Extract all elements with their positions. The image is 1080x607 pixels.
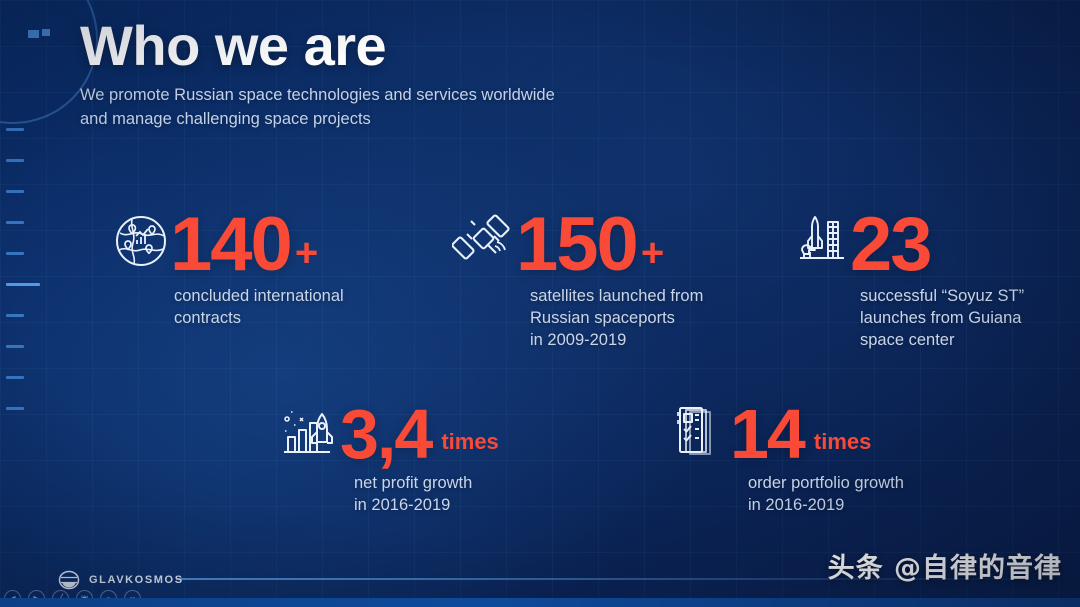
bottom-progress-bar	[0, 598, 1080, 607]
stat-value: 150	[516, 212, 637, 277]
globe-network-icon	[112, 212, 170, 270]
glavkosmos-emblem-icon	[58, 570, 80, 590]
launch-pad-icon	[792, 212, 850, 270]
stat-soyuz-st-launches: 23 successful “Soyuz ST” launches from G…	[792, 212, 1024, 352]
page-title: Who we are	[80, 16, 840, 75]
stat-value: 14	[730, 404, 804, 464]
stat-order-portfolio-growth: 14 times order portfolio growth in 2016-…	[672, 404, 904, 517]
stat-suffix: times	[814, 429, 871, 455]
stat-caption: concluded international contracts	[174, 286, 344, 330]
watermark: 头条 @自律的音律	[828, 546, 1062, 585]
page-subtitle: We promote Russian space technologies an…	[80, 84, 840, 131]
decorative-dot	[28, 30, 39, 38]
stat-net-profit-growth: 3,4 times net profit growth in 2016-2019	[278, 404, 499, 517]
stat-suffix: times	[441, 429, 498, 455]
stat-caption: net profit growth in 2016-2019	[354, 473, 499, 517]
stat-suffix: +	[295, 233, 318, 273]
slide-header: Who we are We promote Russian space tech…	[80, 16, 840, 131]
stat-caption: successful “Soyuz ST” launches from Guia…	[860, 286, 1024, 352]
checklist-documents-icon	[672, 404, 730, 462]
logo-text: GLAVKOSMOS	[89, 574, 184, 586]
stat-value: 140	[170, 212, 291, 277]
decorative-ruler-ticks	[6, 128, 46, 548]
stat-caption: order portfolio growth in 2016-2019	[748, 473, 904, 517]
satellite-icon	[452, 212, 516, 268]
decorative-dot	[42, 29, 50, 36]
stat-concluded-contracts: 140 + concluded international contracts	[112, 212, 344, 330]
stat-suffix: +	[641, 233, 664, 273]
stat-caption: satellites launched from Russian spacepo…	[530, 286, 703, 352]
presentation-slide: Who we are We promote Russian space tech…	[0, 0, 1080, 607]
stat-value: 3,4	[340, 404, 431, 464]
glavkosmos-logo: GLAVKOSMOS	[58, 570, 184, 590]
rocket-chart-icon	[278, 404, 340, 462]
stat-value: 23	[850, 212, 931, 277]
stat-satellites-launched: 150 + satellites launched from Russian s…	[452, 212, 703, 352]
